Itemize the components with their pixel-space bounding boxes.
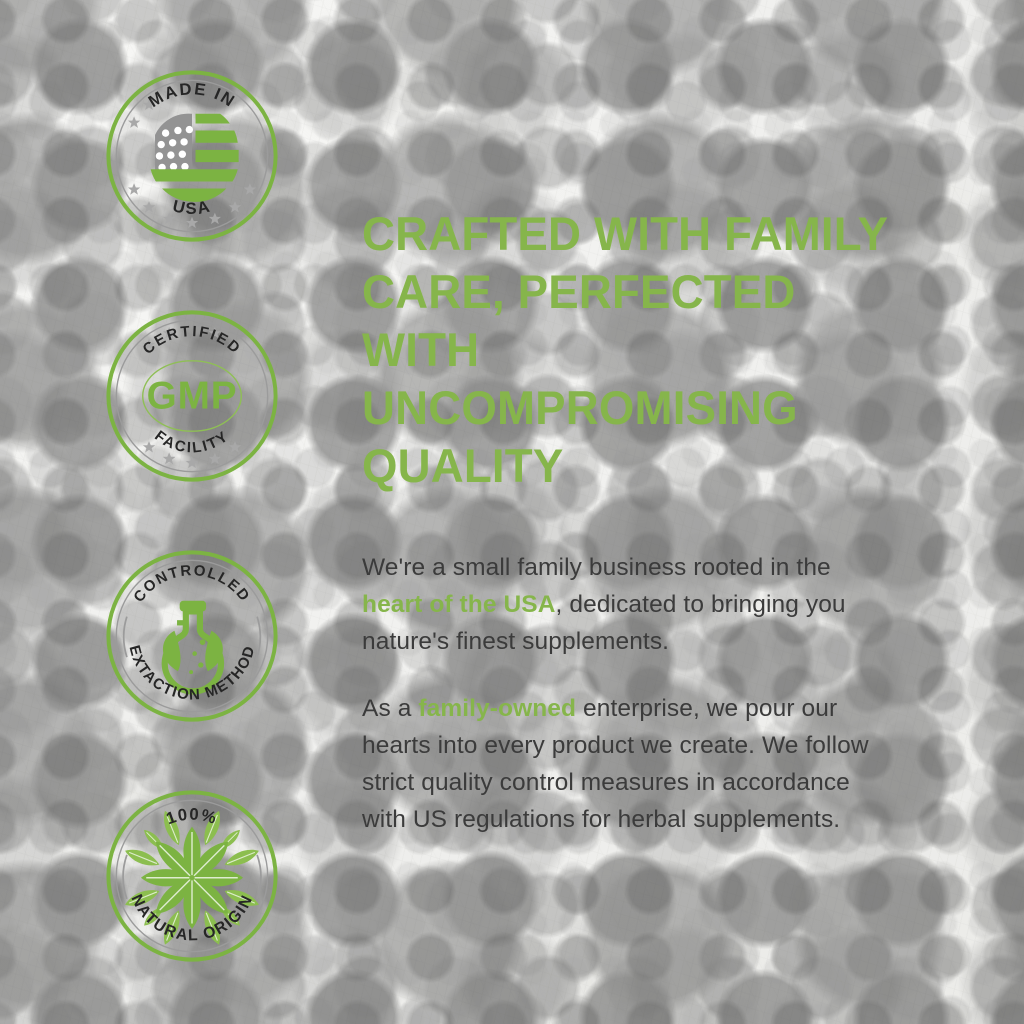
- text-run: As a: [362, 695, 418, 722]
- badge-arc-accent-left: [123, 855, 127, 899]
- paragraph-2: As a family-owned enterprise, we pour ou…: [362, 690, 882, 838]
- content-column: CRAFTED WITH FAMILY CARE, PERFECTED WITH…: [362, 205, 922, 838]
- badge-bottom-text: USA: [171, 196, 213, 218]
- trust-badge-column: MADE IN USA: [104, 68, 280, 1024]
- highlighted-phrase: heart of the USA: [362, 591, 556, 618]
- highlighted-phrase: family-owned: [418, 695, 576, 722]
- badge-top-text: 100%: [164, 805, 220, 829]
- flask-leaf-icon: [163, 601, 223, 692]
- usa-flag-icon: [151, 114, 239, 202]
- badge-arc-accent-right: [257, 855, 261, 899]
- leaf-rosette-icon: [123, 809, 261, 947]
- badge-top-text: CERTIFIED: [140, 323, 245, 358]
- natural-origin-badge: 100% NATURAL ORIGIN: [104, 788, 280, 964]
- gmp-certified-badge: GMP CERTIFIED FACILITY: [104, 308, 280, 484]
- badge-center-text: GMP: [147, 375, 238, 418]
- paragraph-1: We're a small family business rooted in …: [362, 549, 882, 660]
- made-in-usa-badge: MADE IN USA: [104, 68, 280, 244]
- badge-top-text: MADE IN: [145, 79, 239, 111]
- page-title: CRAFTED WITH FAMILY CARE, PERFECTED WITH…: [362, 205, 905, 495]
- controlled-extraction-badge: CONTROLLED EXTACTION METHOD: [104, 548, 280, 724]
- text-run: We're a small family business rooted in …: [362, 554, 831, 581]
- body-copy: We're a small family business rooted in …: [362, 549, 882, 838]
- badge-top-text: CONTROLLED: [130, 562, 253, 606]
- promo-graphic: MADE IN USA: [0, 0, 1024, 1024]
